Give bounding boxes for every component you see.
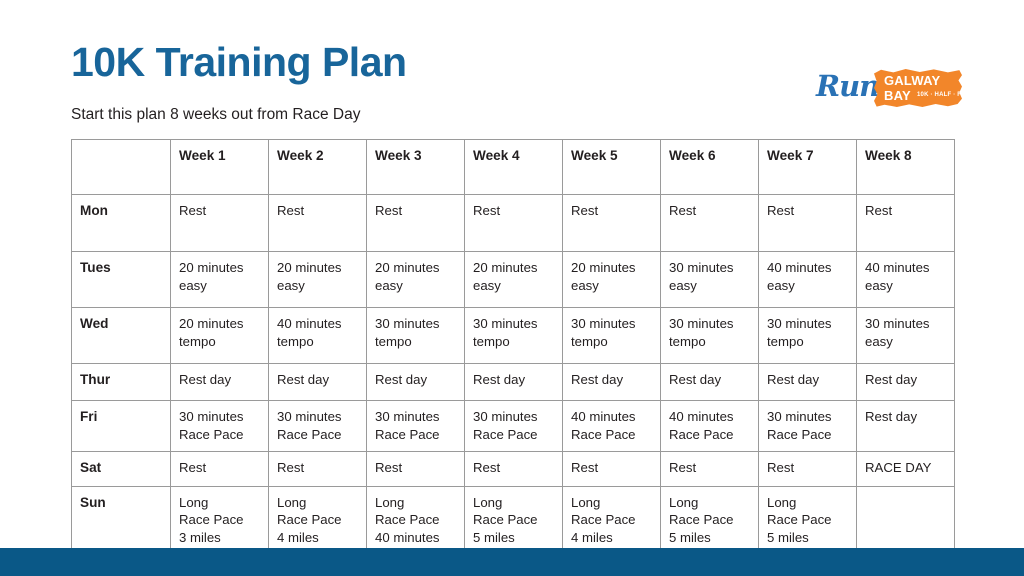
table-cell-line: Rest day	[375, 371, 457, 389]
training-plan-table: Week 1Week 2Week 3Week 4Week 5Week 6Week…	[71, 139, 955, 562]
table-cell: Rest	[759, 195, 857, 252]
table-cell-line: easy	[767, 277, 849, 295]
table-header-row: Week 1Week 2Week 3Week 4Week 5Week 6Week…	[72, 140, 955, 195]
table-cell: Rest day	[465, 364, 563, 401]
table-cell: 30 minuteseasy	[661, 252, 759, 308]
table-cell: 40 minuteseasy	[759, 252, 857, 308]
table-cell-line: Rest day	[767, 371, 849, 389]
table-cell-line: 40 minutes	[669, 408, 751, 426]
table-row: SatRestRestRestRestRestRestRestRACE DAY	[72, 451, 955, 486]
table-column-header: Week 4	[465, 140, 563, 195]
table-cell-line: 30 minutes	[865, 315, 947, 333]
table-cell: 30 minutestempo	[563, 308, 661, 364]
table-cell-line: Race Pace	[571, 511, 653, 529]
table-corner-cell	[72, 140, 171, 195]
table-cell-line: Rest	[179, 202, 261, 220]
table-column-header: Week 8	[857, 140, 955, 195]
table-cell-line: Rest	[473, 202, 555, 220]
table-cell: 30 minutestempo	[759, 308, 857, 364]
table-cell: Rest	[269, 195, 367, 252]
table-cell-line: 20 minutes	[571, 259, 653, 277]
table-cell-line: Rest day	[571, 371, 653, 389]
table-cell: 30 minutesRace Pace	[269, 401, 367, 452]
table-cell-line: 40 minutes	[865, 259, 947, 277]
table-cell-line: Rest day	[669, 371, 751, 389]
table-cell-line: Race Pace	[669, 426, 751, 444]
table-cell-line: Long	[375, 494, 457, 512]
table-cell: Rest	[367, 195, 465, 252]
table-cell: 30 minutestempo	[465, 308, 563, 364]
table-cell-line: 40 minutes	[767, 259, 849, 277]
table-cell-line: tempo	[473, 333, 555, 351]
table-cell-line: Long	[669, 494, 751, 512]
table-cell-line: 30 minutes	[277, 408, 359, 426]
table-cell-line: Long	[571, 494, 653, 512]
table-cell: Rest day	[759, 364, 857, 401]
table-cell-line: easy	[571, 277, 653, 295]
table-row-day-label: Tues	[72, 252, 171, 308]
table-cell-line: 30 minutes	[669, 259, 751, 277]
table-cell: Rest	[563, 195, 661, 252]
table-cell-line: Race Pace	[277, 511, 359, 529]
table-header: Week 1Week 2Week 3Week 4Week 5Week 6Week…	[72, 140, 955, 195]
table-cell-line: easy	[865, 333, 947, 351]
table-cell: 20 minuteseasy	[171, 252, 269, 308]
table-cell: 20 minuteseasy	[367, 252, 465, 308]
slide-canvas: 10K Training Plan Start this plan 8 week…	[0, 0, 1024, 576]
table-cell-line: 5 miles	[767, 529, 849, 547]
table-cell-line: Long	[277, 494, 359, 512]
table-cell: 30 minutestempo	[367, 308, 465, 364]
table-cell-line: Rest day	[277, 371, 359, 389]
table-cell: Rest day	[171, 364, 269, 401]
table-cell: Rest day	[269, 364, 367, 401]
table-cell-line: Race Pace	[767, 511, 849, 529]
table-cell: 20 minuteseasy	[269, 252, 367, 308]
table-cell-line: easy	[865, 277, 947, 295]
table-cell-line: 30 minutes	[571, 315, 653, 333]
table-cell-line: Race Pace	[277, 426, 359, 444]
table-cell-line: easy	[473, 277, 555, 295]
table-cell-line: Race Pace	[669, 511, 751, 529]
table-column-header: Week 5	[563, 140, 661, 195]
table-cell: 30 minutesRace Pace	[465, 401, 563, 452]
footer-bar	[0, 548, 1024, 576]
table-cell-line: Rest	[375, 459, 457, 477]
table-cell-line: 20 minutes	[277, 259, 359, 277]
table-cell-line: Rest	[865, 202, 947, 220]
table-cell-line: Rest	[571, 459, 653, 477]
table-cell-line: 30 minutes	[669, 315, 751, 333]
table-cell-line: 20 minutes	[473, 259, 555, 277]
table-cell: Rest	[171, 195, 269, 252]
table-cell: Rest	[661, 195, 759, 252]
table-cell-line: Rest	[669, 202, 751, 220]
table-row-day-label: Sat	[72, 451, 171, 486]
table-cell-line: Rest day	[865, 408, 947, 426]
table-row-day-label: Thur	[72, 364, 171, 401]
table-cell-line: 20 minutes	[179, 259, 261, 277]
table-cell-line: Rest day	[179, 371, 261, 389]
table-cell-line: 30 minutes	[473, 408, 555, 426]
table-cell: Rest	[759, 451, 857, 486]
table-cell-line: 30 minutes	[375, 408, 457, 426]
table-cell-line: Rest	[473, 459, 555, 477]
table-cell-line: Race Pace	[375, 426, 457, 444]
table-body: MonRestRestRestRestRestRestRestRestTues2…	[72, 195, 955, 562]
table-cell-line: Rest	[179, 459, 261, 477]
table-cell-line: 30 minutes	[179, 408, 261, 426]
run-galway-bay-logo: Run GALWAY BAY 10K · HALF · FULL	[816, 66, 962, 112]
table-cell: Rest	[465, 195, 563, 252]
table-cell-line: Rest	[767, 202, 849, 220]
table-cell-line: Race Pace	[375, 511, 457, 529]
table-cell-line: Rest	[767, 459, 849, 477]
table-cell: 30 minutesRace Pace	[367, 401, 465, 452]
table-cell: 40 minuteseasy	[857, 252, 955, 308]
table-column-header: Week 7	[759, 140, 857, 195]
table-cell-line: 3 miles	[179, 529, 261, 547]
table-cell: RACE DAY	[857, 451, 955, 486]
table-cell-line: 40 minutes	[375, 529, 457, 547]
table-cell-line: RACE DAY	[865, 459, 947, 477]
table-row: MonRestRestRestRestRestRestRestRest	[72, 195, 955, 252]
table-cell-line: Long	[767, 494, 849, 512]
table-cell: Rest day	[857, 364, 955, 401]
table-cell-line: easy	[375, 277, 457, 295]
table-cell-line: Long	[179, 494, 261, 512]
table-cell: Rest day	[367, 364, 465, 401]
table-cell: 40 minutesRace Pace	[563, 401, 661, 452]
table-cell-line: easy	[277, 277, 359, 295]
table-cell-line: Long	[473, 494, 555, 512]
table-cell-line: Rest	[277, 459, 359, 477]
table-cell-line: tempo	[277, 333, 359, 351]
table-cell-line: 20 minutes	[179, 315, 261, 333]
table-cell-line: 5 miles	[669, 529, 751, 547]
logo-bay-text: BAY	[884, 89, 911, 102]
table-cell-line: Rest day	[473, 371, 555, 389]
table-cell: Rest	[465, 451, 563, 486]
table-cell-line: Race Pace	[179, 511, 261, 529]
table-cell: 20 minuteseasy	[465, 252, 563, 308]
table-cell-line: Rest	[375, 202, 457, 220]
table-row: ThurRest dayRest dayRest dayRest dayRest…	[72, 364, 955, 401]
table-cell-line: tempo	[179, 333, 261, 351]
page-subtitle: Start this plan 8 weeks out from Race Da…	[71, 106, 360, 125]
table-cell-line: tempo	[767, 333, 849, 351]
table-cell: 20 minuteseasy	[563, 252, 661, 308]
table-cell-line: tempo	[571, 333, 653, 351]
table-row-day-label: Fri	[72, 401, 171, 452]
table-cell-line: 30 minutes	[767, 408, 849, 426]
table-cell-line: Rest	[571, 202, 653, 220]
table-cell: 40 minutesRace Pace	[661, 401, 759, 452]
table-column-header: Week 1	[171, 140, 269, 195]
table-cell: 30 minuteseasy	[857, 308, 955, 364]
table-cell-line: easy	[669, 277, 751, 295]
table-cell-line: 40 minutes	[571, 408, 653, 426]
table-cell: Rest day	[563, 364, 661, 401]
table-cell-line: 30 minutes	[473, 315, 555, 333]
table-cell-line: 30 minutes	[375, 315, 457, 333]
table-cell-line: 20 minutes	[375, 259, 457, 277]
table-cell: 30 minutestempo	[661, 308, 759, 364]
table-cell: 20 minutestempo	[171, 308, 269, 364]
table-row-day-label: Wed	[72, 308, 171, 364]
table-column-header: Week 6	[661, 140, 759, 195]
table-cell-line: Race Pace	[179, 426, 261, 444]
table-cell-line: Race Pace	[767, 426, 849, 444]
table-cell-line: 40 minutes	[277, 315, 359, 333]
table-cell: Rest day	[857, 401, 955, 452]
table-cell-line: 5 miles	[473, 529, 555, 547]
logo-run-wordmark: Run	[816, 72, 879, 101]
table-row: Wed20 minutestempo40 minutestempo30 minu…	[72, 308, 955, 364]
table-cell: 40 minutestempo	[269, 308, 367, 364]
logo-distances-text: 10K · HALF · FULL	[917, 92, 973, 98]
table-row: Fri30 minutesRace Pace30 minutesRace Pac…	[72, 401, 955, 452]
table-cell: Rest day	[661, 364, 759, 401]
table-cell: Rest	[367, 451, 465, 486]
table-cell-line: tempo	[669, 333, 751, 351]
table-cell: 30 minutesRace Pace	[171, 401, 269, 452]
table-cell: 30 minutesRace Pace	[759, 401, 857, 452]
page-title: 10K Training Plan	[71, 40, 407, 85]
table-cell-line: easy	[179, 277, 261, 295]
table-cell: Rest	[563, 451, 661, 486]
table-cell-line: 4 miles	[277, 529, 359, 547]
table-cell-line: Race Pace	[473, 511, 555, 529]
table-row: Tues20 minuteseasy20 minuteseasy20 minut…	[72, 252, 955, 308]
table-column-header: Week 3	[367, 140, 465, 195]
table-cell: Rest	[171, 451, 269, 486]
table-cell-line: Race Pace	[571, 426, 653, 444]
table-cell: Rest	[661, 451, 759, 486]
table-cell-line: Rest day	[865, 371, 947, 389]
table-cell-line: tempo	[375, 333, 457, 351]
table-cell: Rest	[857, 195, 955, 252]
table-cell: Rest	[269, 451, 367, 486]
table-cell-line: 4 miles	[571, 529, 653, 547]
table-cell-line: Rest	[277, 202, 359, 220]
table-row-day-label: Mon	[72, 195, 171, 252]
logo-galway-text: GALWAY	[884, 74, 940, 87]
table-column-header: Week 2	[269, 140, 367, 195]
table-cell-line: Rest	[669, 459, 751, 477]
table-cell-line: 30 minutes	[767, 315, 849, 333]
table-cell-line: Race Pace	[473, 426, 555, 444]
